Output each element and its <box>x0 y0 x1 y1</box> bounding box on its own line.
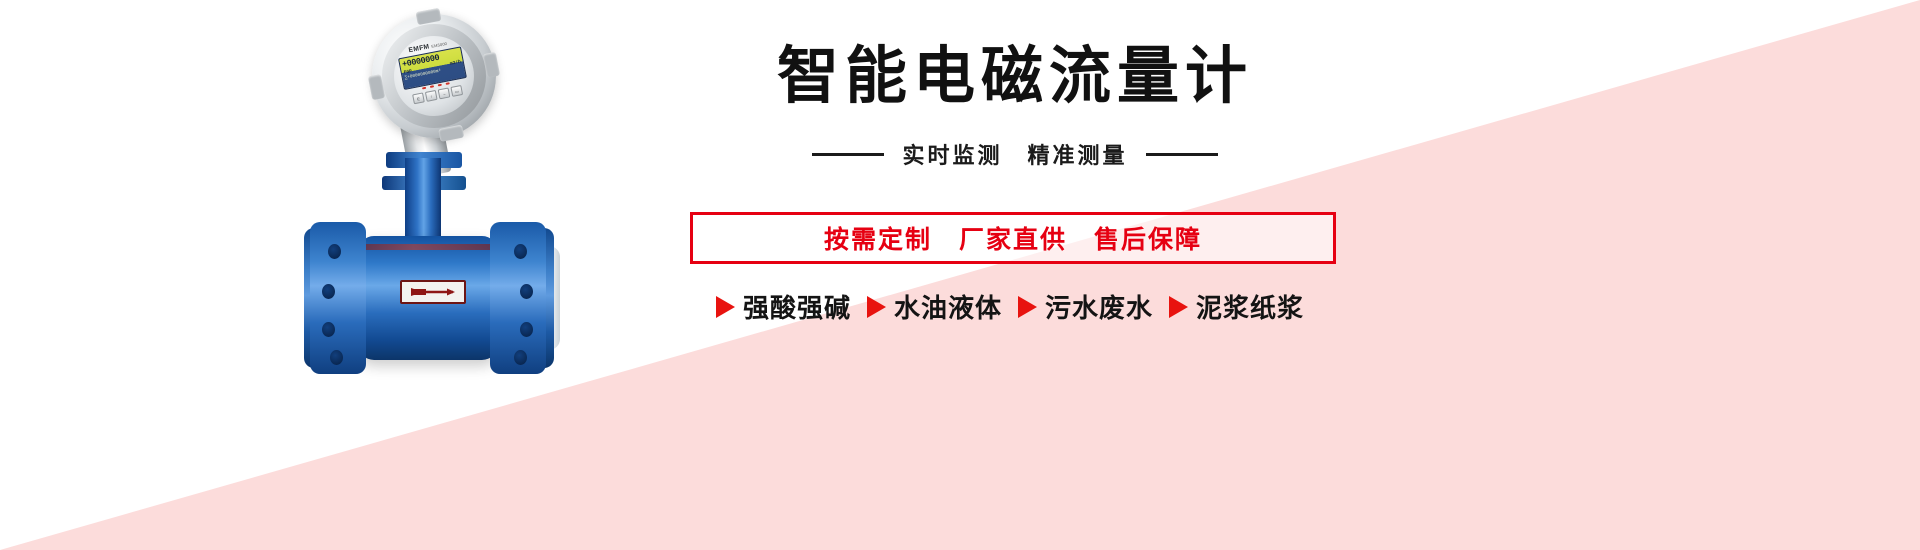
flange-bolt-hole <box>322 284 335 299</box>
bullet-label: 强酸强碱 <box>743 288 851 325</box>
triangle-bullet-icon <box>716 296 735 318</box>
bullet-item-water-oil-liquid: 水油液体 <box>867 288 1002 325</box>
flange-bolt-hole <box>520 322 533 337</box>
right-flange <box>490 222 546 374</box>
feature-highlight-text: 按需定制 厂家直供 售后保障 <box>824 220 1202 256</box>
banner-text-content: 智能电磁流量计 实时监测 精准测量 按需定制 厂家直供 售后保障 强酸强碱 水油… <box>660 0 1360 550</box>
clamp-tab-bottom <box>438 125 464 142</box>
flange-bolt-hole <box>514 350 527 365</box>
bullet-label: 水油液体 <box>894 288 1002 325</box>
led-indicator <box>438 84 442 87</box>
flange-bolt-hole <box>520 284 533 299</box>
led-indicator <box>430 85 434 88</box>
bullet-label: 泥浆纸浆 <box>1196 288 1304 325</box>
clamp-tab-top <box>416 8 442 25</box>
flange-bolt-hole <box>330 350 343 365</box>
clamp-tab-right <box>483 52 500 78</box>
bullet-item-slurry-pulp: 泥浆纸浆 <box>1169 288 1304 325</box>
subtitle-row: 实时监测 精准测量 <box>670 138 1360 170</box>
left-flange <box>310 222 366 374</box>
keypad-button: → <box>438 87 451 99</box>
feature-highlight-box: 按需定制 厂家直供 售后保障 <box>690 212 1336 264</box>
bullet-item-sewage-wastewater: 污水废水 <box>1018 288 1153 325</box>
divider-rule-right <box>1146 153 1218 156</box>
flange-bolt-hole <box>328 244 341 259</box>
bullet-item-strong-acid-alkali: 强酸强碱 <box>716 288 851 325</box>
flow-direction-arrow-icon <box>409 286 457 298</box>
application-bullet-list: 强酸强碱 水油液体 污水废水 泥浆纸浆 <box>660 288 1360 325</box>
keypad-button: ↑ <box>425 90 438 102</box>
triangle-bullet-icon <box>1018 296 1037 318</box>
flange-bolt-hole <box>514 244 527 259</box>
model-number: EM5000 <box>431 41 448 49</box>
keypad-button: ▭ <box>450 85 463 97</box>
flow-direction-plate <box>400 280 466 304</box>
transmitter-head: EMFMEM5000 +0000000 FGP m3/h ∑+000000000… <box>361 3 506 148</box>
led-indicator <box>446 82 450 85</box>
body-seal-band <box>358 244 498 250</box>
clamp-tab-left <box>368 74 385 100</box>
riser-pipe <box>405 158 441 244</box>
product-banner: EMFMEM5000 +0000000 FGP m3/h ∑+000000000… <box>0 0 1920 550</box>
triangle-bullet-icon <box>1169 296 1188 318</box>
page-title: 智能电磁流量计 <box>670 46 1360 108</box>
keypad-button: E <box>412 92 425 104</box>
flowmeter-product-image: EMFMEM5000 +0000000 FGP m3/h ∑+000000000… <box>300 8 630 428</box>
bullet-label: 污水废水 <box>1045 288 1153 325</box>
led-indicator <box>422 87 426 90</box>
keypad: E ↑ → ▭ <box>412 85 463 104</box>
triangle-bullet-icon <box>867 296 886 318</box>
subtitle-text: 实时监测 精准测量 <box>902 138 1127 170</box>
flange-bolt-hole <box>322 322 335 337</box>
divider-rule-left <box>812 153 884 156</box>
